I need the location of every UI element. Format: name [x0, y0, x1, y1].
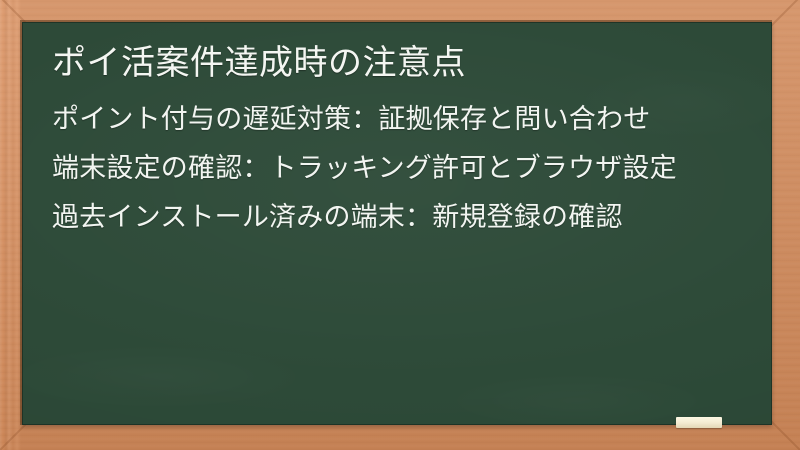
bullet-item-1: ポイント付与の遅延対策：証拠保存と問い合わせ — [52, 100, 752, 140]
chalkboard-surface: ポイ活案件達成時の注意点 ポイント付与の遅延対策：証拠保存と問い合わせ 端末設定… — [22, 22, 772, 425]
bullet-item-2: 端末設定の確認：トラッキング許可とブラウザ設定 — [52, 149, 752, 189]
slide-title: ポイ活案件達成時の注意点 — [52, 42, 752, 85]
bullet-item-3: 過去インストール済みの端末：新規登録の確認 — [52, 198, 752, 238]
frame-miter-top-right — [769, 0, 800, 28]
slide-bullet-list: ポイント付与の遅延対策：証拠保存と問い合わせ 端末設定の確認：トラッキング許可と… — [52, 100, 752, 247]
chalk-stick-icon — [676, 417, 722, 428]
chalkboard-slide: ポイ活案件達成時の注意点 ポイント付与の遅延対策：証拠保存と問い合わせ 端末設定… — [0, 0, 800, 450]
